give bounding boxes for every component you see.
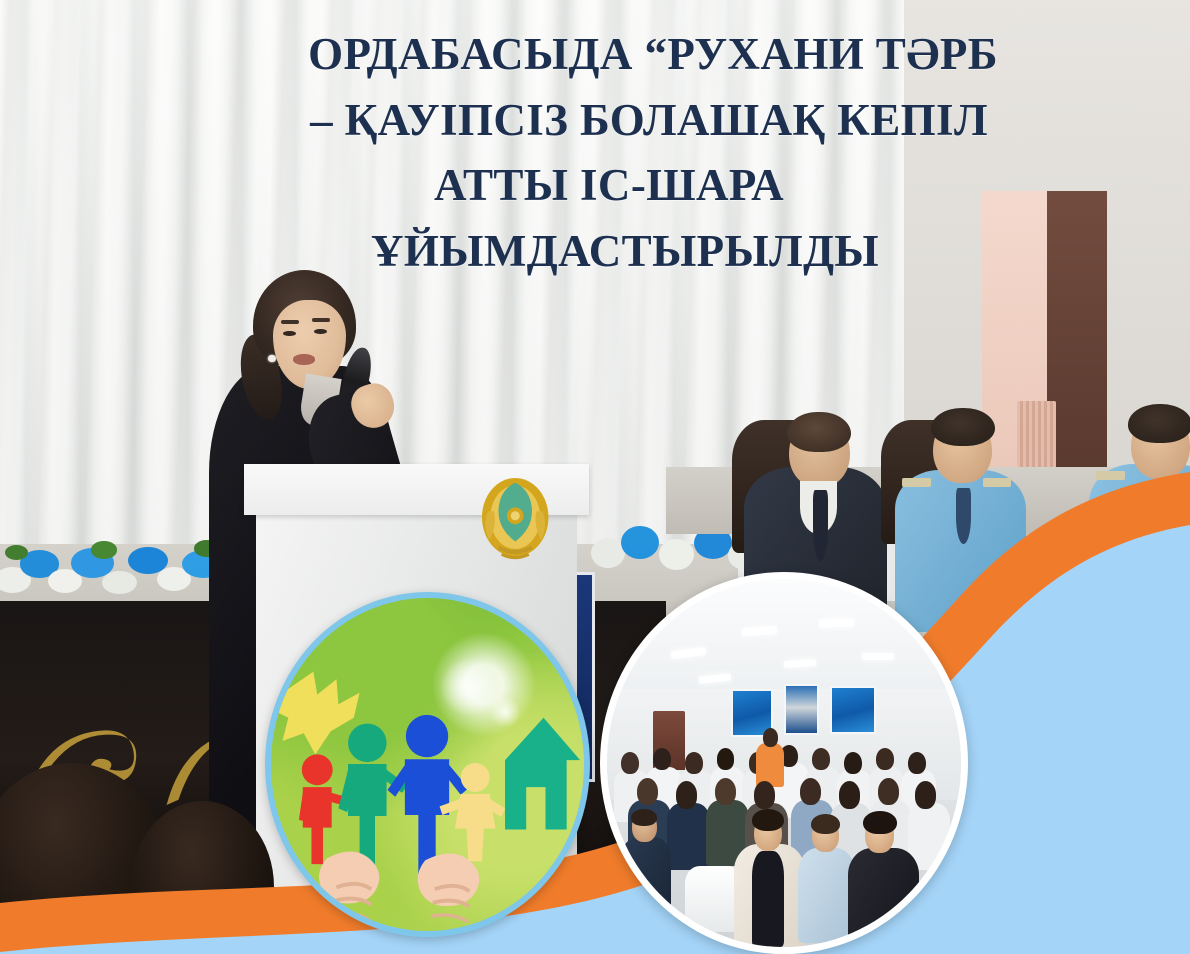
speaker-brow-left <box>281 320 299 324</box>
chair <box>685 866 742 932</box>
wall-poster-centre <box>784 684 819 736</box>
dark-door <box>1047 191 1107 496</box>
hand-left <box>319 852 379 920</box>
officer-epaulette-left <box>902 478 931 487</box>
officer-hair <box>931 408 995 446</box>
circle-audience-photo <box>600 572 968 954</box>
officer-hair <box>1128 404 1190 442</box>
officer-tie <box>956 488 971 543</box>
speaker-earring <box>268 355 275 362</box>
officer-uniform <box>1089 464 1190 626</box>
wall-poster-right <box>830 686 876 734</box>
official-tie <box>813 490 828 561</box>
radiator <box>1017 401 1055 477</box>
front-student <box>798 848 855 944</box>
officer-epaulette-left <box>1096 471 1125 480</box>
foreground-head-2 <box>131 801 274 954</box>
paper-sun-icon <box>271 672 360 755</box>
paper-mother-figure <box>338 724 407 872</box>
ceiling-light <box>862 653 894 660</box>
standing-person-orange <box>756 743 784 787</box>
bokeh-highlight <box>440 658 498 716</box>
hand-right <box>418 853 480 921</box>
circle-family-photo <box>265 592 590 937</box>
speaker-brow-right <box>312 318 330 322</box>
front-woman-dark <box>848 848 919 951</box>
paper-father-figure <box>388 715 469 875</box>
officer-epaulette-right <box>983 478 1012 487</box>
poster-canvas: ОРДАБАСЫДА “РУХАНИ ТӘРБ – ҚАУІПСІЗ БОЛАШ… <box>0 0 1190 954</box>
paper-house-icon <box>505 718 580 830</box>
official-hair <box>787 412 851 452</box>
bokeh-highlight-2 <box>490 697 521 728</box>
family-cutout-illustration <box>271 598 584 931</box>
kazakhstan-emblem-icon <box>470 472 560 563</box>
speaker-mouth <box>293 354 316 365</box>
background-photograph <box>0 0 1190 954</box>
